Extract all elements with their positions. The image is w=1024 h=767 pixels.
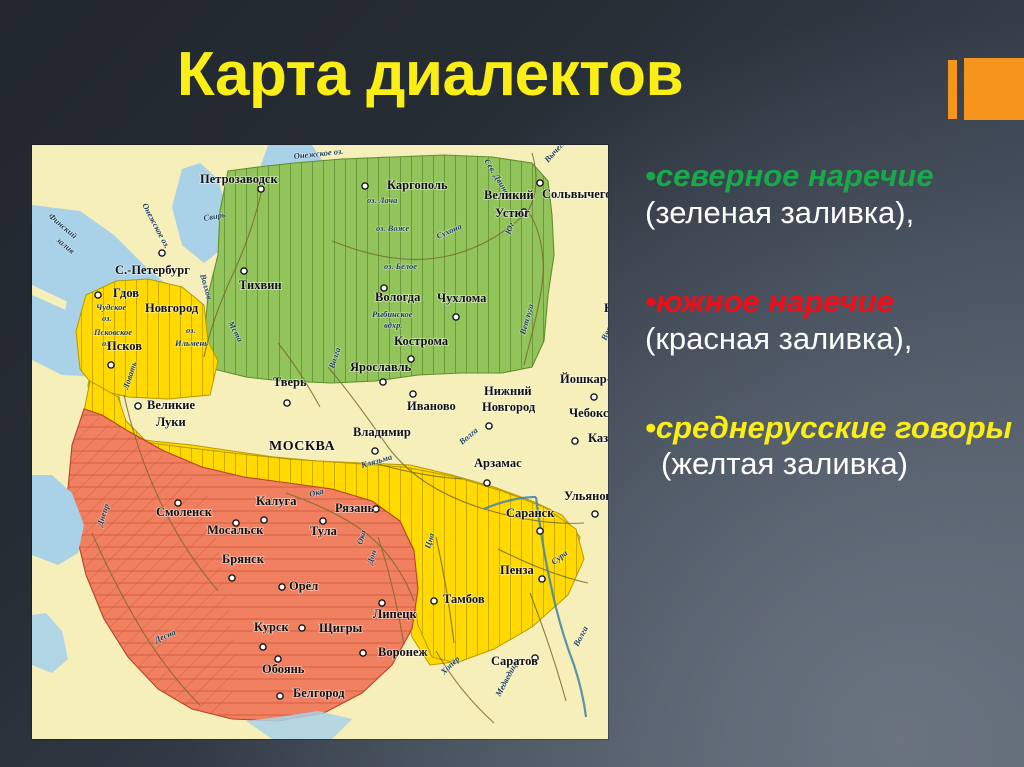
legend-bullet-north: • <box>645 158 656 193</box>
legend-note-middle: (желтая заливка) <box>661 446 908 481</box>
map-city-label: Тамбов <box>443 592 485 606</box>
map-city-dot <box>591 394 597 400</box>
map-city-dot <box>159 250 165 256</box>
map-city-label: Обоянь <box>262 662 305 676</box>
map-city-dot <box>277 693 283 699</box>
map-hydronym-label: оз. <box>186 325 196 335</box>
legend-bullet-middle: • <box>645 410 656 445</box>
map-city-dot <box>572 438 578 444</box>
legend-note-south: (красная заливка), <box>645 321 912 356</box>
map-city-dot <box>260 644 266 650</box>
map-city-label: Казань <box>588 431 608 445</box>
map-hydronym-label: оз. Белое <box>384 261 417 271</box>
map-city-label: Нижний <box>484 384 532 398</box>
map-city-dot <box>484 480 490 486</box>
legend-term-south: южное наречие <box>656 284 894 319</box>
map-city-label: Саранск <box>506 506 555 520</box>
legend-bullet-south: • <box>645 284 656 319</box>
map-city-label: Йошкар-Ола <box>560 372 608 386</box>
map-city-label: Мосальск <box>207 523 264 537</box>
accent-bar <box>948 60 957 119</box>
map-city-label: С.-Петербург <box>115 263 190 277</box>
legend-term-north: северное наречие <box>656 158 934 193</box>
map-city-label: Брянск <box>222 552 265 566</box>
map-city-label: Калуга <box>256 494 297 508</box>
map-city-dot <box>486 423 492 429</box>
legend-item-south: •южное наречие (красная заливка), <box>645 284 1013 358</box>
map-city-dot <box>360 650 366 656</box>
page-title: Карта диалектов <box>0 44 860 106</box>
map-city-label: Луки <box>156 415 186 429</box>
map-city-dot <box>592 511 598 517</box>
map-city-label: Щигры <box>319 621 363 635</box>
map-city-label: Курск <box>254 620 290 634</box>
map-city-label: Петрозаводск <box>200 172 278 186</box>
map-city-dot <box>431 598 437 604</box>
map-city-label: Устюг <box>495 206 530 220</box>
map-city-label: Псков <box>107 339 142 353</box>
map-city-label: Чебоксары <box>569 406 608 420</box>
map-city-label: Вологда <box>375 290 421 304</box>
map-city-dot <box>279 584 285 590</box>
legend-text-column: •северное наречие (зеленая заливка), •юж… <box>645 158 1013 483</box>
map-city-label: Чухлома <box>437 291 487 305</box>
map-city-dot <box>453 314 459 320</box>
map-city-label: Пенза <box>500 563 534 577</box>
map-city-dot <box>135 403 141 409</box>
map-city-label: МОСКВА <box>269 439 335 454</box>
map-city-label: Смоленск <box>156 505 213 519</box>
map-city-dot <box>241 268 247 274</box>
map-city-label: Великие <box>147 398 196 412</box>
map-hydronym-label: вдхр. <box>384 320 402 330</box>
map-city-dot <box>108 362 114 368</box>
map-city-label: Каргополь <box>387 178 448 192</box>
map-city-label: Иваново <box>407 399 456 413</box>
map-city-label: Новгород <box>482 400 536 414</box>
map-city-label: Саратов <box>491 654 538 668</box>
map-city-dot <box>299 625 305 631</box>
dialect-map: Онежское оз.ФинскийзаливОнежское оз.Свир… <box>32 145 608 739</box>
slide-root: Карта диалектов <box>0 0 1024 767</box>
map-city-label: Владимир <box>353 425 411 439</box>
map-city-label: Орёл <box>289 579 318 593</box>
orange-accent-decoration <box>948 58 1024 120</box>
map-city-label: Воронеж <box>378 645 429 659</box>
map-city-label: Сольвычегорск <box>542 187 608 201</box>
map-city-dot <box>380 379 386 385</box>
map-city-label: Ульяновск <box>564 489 608 503</box>
map-city-dot <box>284 400 290 406</box>
map-hydronym-label: Рыбинское <box>372 309 413 319</box>
legend-spacer-1 <box>645 232 1013 284</box>
map-city-label: Белгород <box>293 686 345 700</box>
legend-term-middle: среднерусские говоры <box>656 410 1012 445</box>
map-hydronym-label: Ильмень <box>174 338 208 348</box>
map-city-label: Киров <box>604 301 608 315</box>
map-city-dot <box>362 183 368 189</box>
map-city-dot <box>95 292 101 298</box>
map-city-label: Тула <box>310 524 338 538</box>
map-city-label: Новгород <box>145 301 199 315</box>
map-hydronym-label: оз. <box>102 313 112 323</box>
map-hydronym-label: Псковское <box>93 327 132 337</box>
map-city-label: Тихвин <box>239 278 282 292</box>
map-hydronym-label: Чудское <box>96 302 126 312</box>
legend-spacer-2 <box>645 358 1013 410</box>
map-city-dot <box>258 186 264 192</box>
map-city-label: Гдов <box>113 286 139 300</box>
map-city-label: Арзамас <box>474 456 522 470</box>
map-city-label: Тверь <box>273 375 307 389</box>
legend-item-middle: •среднерусские говоры (желтая заливка) <box>645 410 1013 484</box>
legend-note-north: (зеленая заливка), <box>645 195 914 230</box>
map-hydronym-label: оз. Лача <box>367 195 398 205</box>
map-city-dot <box>539 576 545 582</box>
map-city-label: Рязань <box>335 501 375 515</box>
accent-block <box>964 58 1024 120</box>
map-city-dot <box>372 448 378 454</box>
map-hydronym-label: оз. Воже <box>376 223 409 233</box>
map-city-label: Ярославль <box>350 360 412 374</box>
map-city-label: Липецк <box>373 607 417 621</box>
map-city-dot <box>379 600 385 606</box>
map-city-label: Кострома <box>394 334 449 348</box>
map-city-dot <box>410 391 416 397</box>
map-city-dot <box>537 180 543 186</box>
legend-item-north: •северное наречие (зеленая заливка), <box>645 158 1013 232</box>
map-city-dot <box>537 528 543 534</box>
map-city-dot <box>229 575 235 581</box>
map-city-label: Великий <box>484 188 534 202</box>
